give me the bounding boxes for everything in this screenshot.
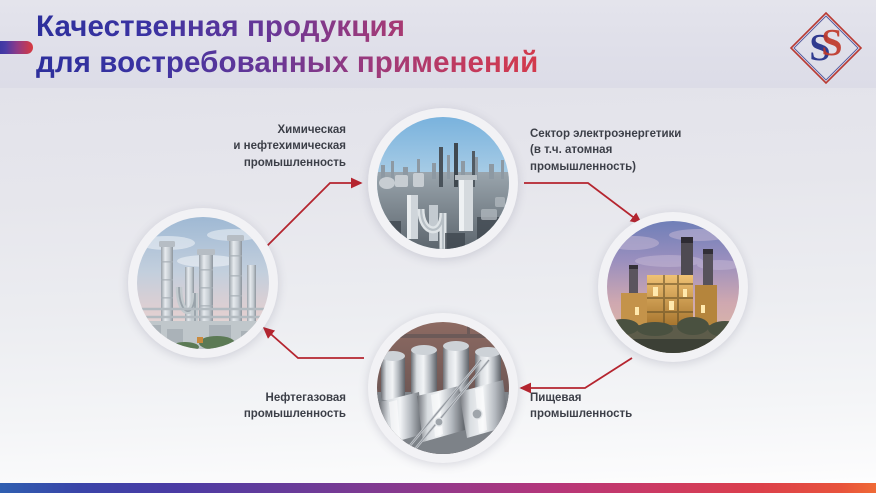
title-accent-bar bbox=[0, 41, 33, 54]
label-oil-gas-industry: Нефтегазовая промышленность bbox=[180, 390, 346, 423]
slide-canvas: Качественная продукция для востребованны… bbox=[0, 0, 876, 493]
slide-header: Качественная продукция для востребованны… bbox=[0, 0, 876, 88]
chemical-industry-photo bbox=[377, 117, 509, 249]
arrow-food-to-oilgas bbox=[264, 328, 364, 358]
power-sector-photo bbox=[607, 221, 739, 353]
arrow-oilgas-to-chemical bbox=[262, 183, 361, 251]
food-industry-photo bbox=[377, 322, 509, 454]
label-chemical-industry: Химическая и нефтехимическая промышленно… bbox=[178, 122, 346, 171]
node-power-sector[interactable] bbox=[598, 212, 748, 362]
svg-text:S: S bbox=[821, 22, 842, 64]
process-cycle-diagram: Химическая и нефтехимическая промышленно… bbox=[0, 88, 876, 493]
arrow-power-to-food bbox=[521, 358, 632, 388]
label-food-industry: Пищевая промышленность bbox=[530, 390, 730, 423]
node-food-industry[interactable] bbox=[368, 313, 518, 463]
company-logo: S S bbox=[786, 8, 866, 88]
oil-gas-industry-photo bbox=[137, 217, 269, 349]
node-oil-gas-industry[interactable] bbox=[128, 208, 278, 358]
logo-diamond-icon: S S bbox=[786, 8, 866, 88]
bottom-gradient-bar bbox=[0, 483, 876, 493]
page-title: Качественная продукция для востребованны… bbox=[36, 9, 736, 81]
node-chemical-industry[interactable] bbox=[368, 108, 518, 258]
arrow-chemical-to-power bbox=[524, 183, 641, 223]
label-power-sector: Сектор электроэнергетики (в т.ч. атомная… bbox=[530, 126, 750, 175]
